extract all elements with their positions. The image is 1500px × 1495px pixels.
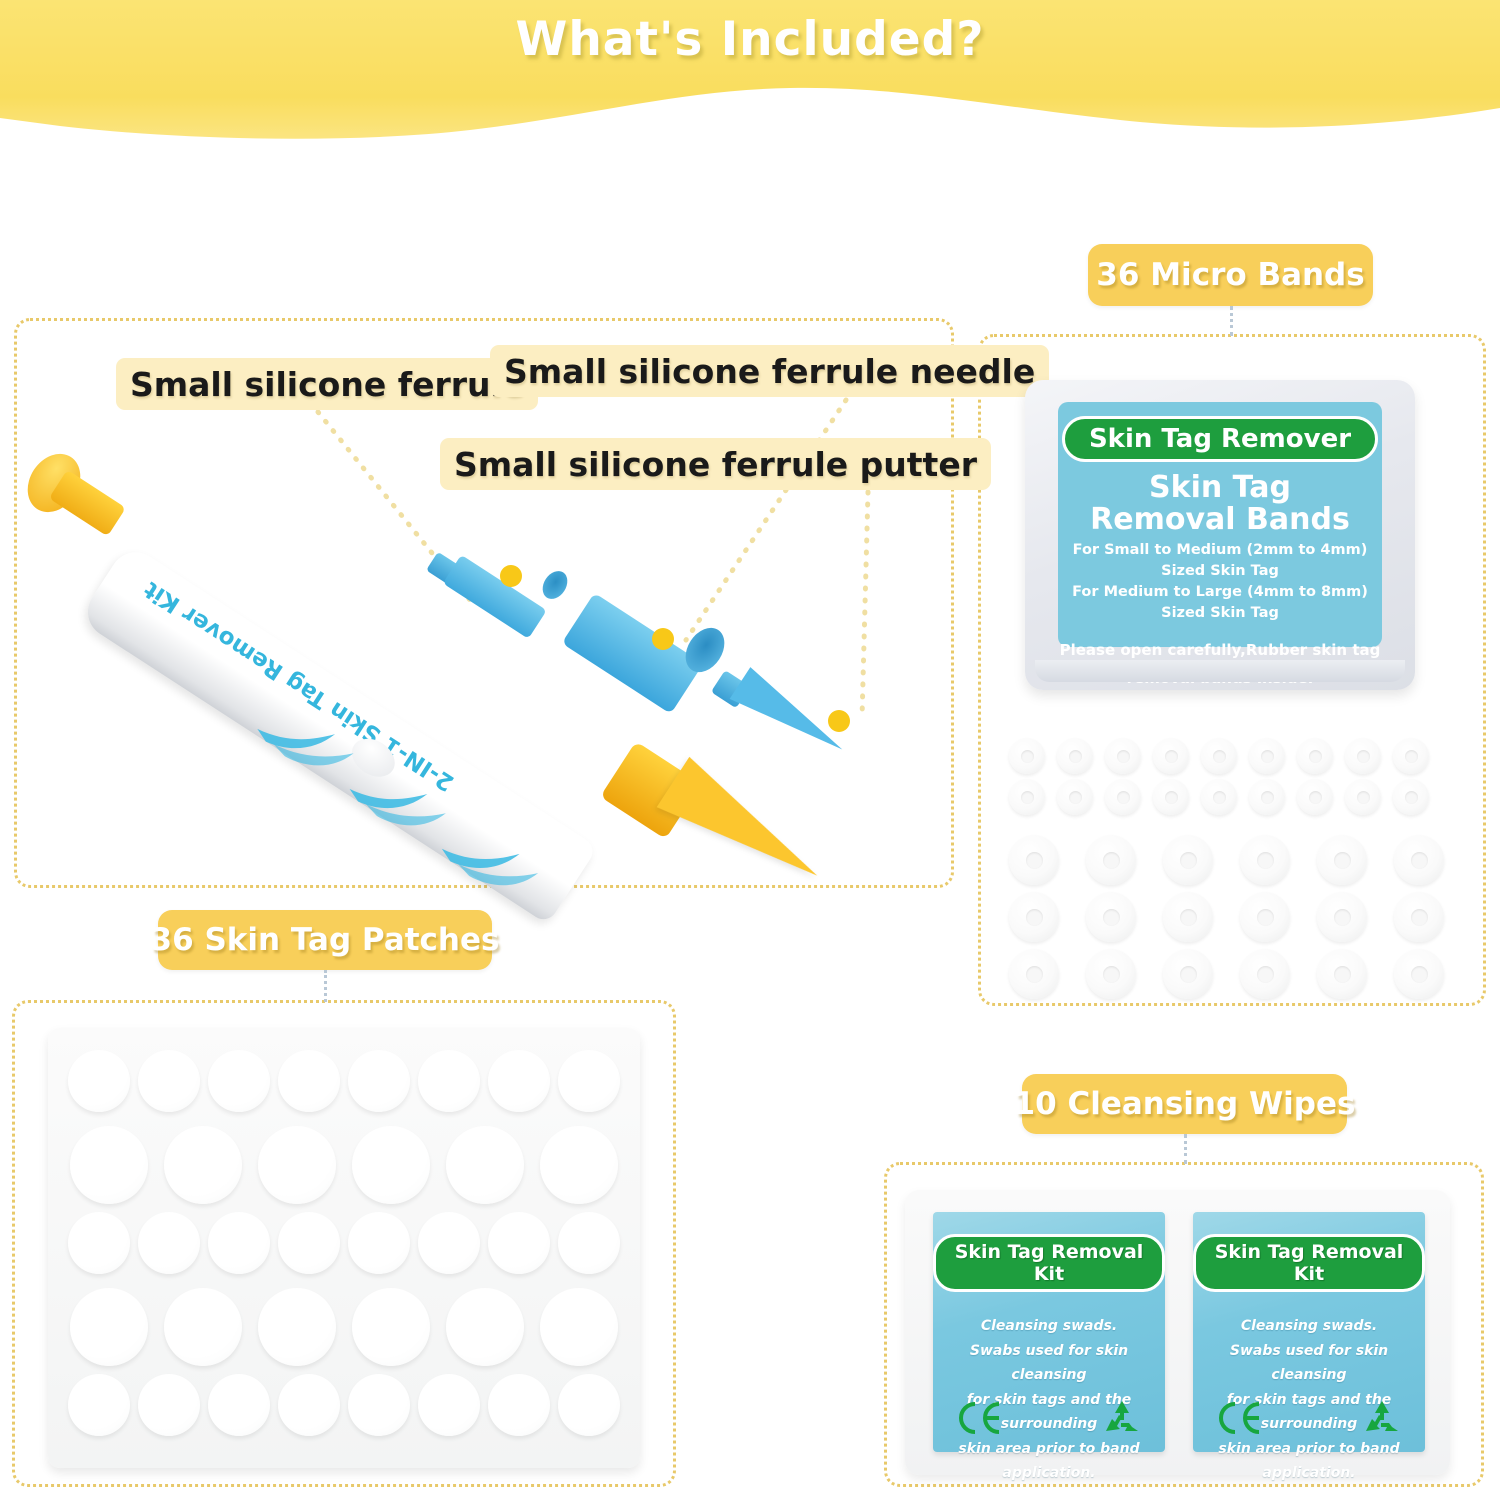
section-label-patches: 36 Skin Tag Patches xyxy=(158,910,492,970)
bands-title-line1: Skin Tag xyxy=(1058,472,1382,504)
micro-band xyxy=(1393,738,1429,774)
skin-tag-patch xyxy=(278,1050,340,1112)
micro-band xyxy=(1086,949,1136,999)
micro-band xyxy=(1105,779,1141,815)
patches-row xyxy=(68,1212,620,1274)
connector-patches xyxy=(324,970,327,1002)
micro-band xyxy=(1345,779,1381,815)
micro-band xyxy=(1105,738,1141,774)
micro-band xyxy=(1163,892,1213,942)
ce-mark-icon xyxy=(955,1398,1005,1438)
recycle-icon xyxy=(1361,1398,1403,1438)
micro-band xyxy=(1086,892,1136,942)
micro-band xyxy=(1153,738,1189,774)
pen-device: 2-IN-1 Skin Tag Remover Kit xyxy=(18,440,918,900)
skin-tag-patch xyxy=(278,1374,340,1436)
skin-tag-patch xyxy=(68,1050,130,1112)
pen-leaf-decoration xyxy=(245,687,558,916)
section-label-micro-bands: 36 Micro Bands xyxy=(1088,244,1373,306)
skin-tag-patch xyxy=(348,1374,410,1436)
wipe-line-2: Swabs used for skin cleansing xyxy=(1203,1339,1415,1388)
micro-band xyxy=(1153,779,1189,815)
micro-band xyxy=(1240,892,1290,942)
bands-case: Skin Tag Remover Skin Tag Removal Bands … xyxy=(1025,380,1415,690)
skin-tag-patch xyxy=(558,1374,620,1436)
bands-case-lip xyxy=(1035,660,1405,682)
skin-tag-patch xyxy=(70,1126,148,1204)
micro-band xyxy=(1057,779,1093,815)
skin-tag-patch xyxy=(488,1050,550,1112)
micro-bands-row xyxy=(1009,949,1444,999)
micro-band xyxy=(1345,738,1381,774)
skin-tag-patch xyxy=(352,1288,430,1366)
micro-band xyxy=(1086,835,1136,885)
pen-plunger-stem xyxy=(49,470,126,537)
skin-tag-patch xyxy=(558,1050,620,1112)
wipe-packet: Skin Tag Removal Kit Cleansing swads. Sw… xyxy=(1193,1212,1425,1452)
micro-bands-row xyxy=(1009,779,1429,815)
micro-band xyxy=(1317,949,1367,999)
bands-title-line2: Removal Bands xyxy=(1058,504,1382,536)
micro-bands-row xyxy=(1009,835,1444,885)
section-label-wipes: 10 Cleansing Wipes xyxy=(1022,1074,1347,1134)
ce-mark-icon xyxy=(1215,1398,1265,1438)
skin-tag-patch xyxy=(488,1212,550,1274)
skin-tag-patch xyxy=(418,1374,480,1436)
marker-dot-ferrule xyxy=(500,565,522,587)
micro-band xyxy=(1057,738,1093,774)
bands-spec-line1: For Small to Medium (2mm to 4mm) Sized S… xyxy=(1058,540,1382,582)
micro-band xyxy=(1009,779,1045,815)
skin-tag-patch xyxy=(558,1212,620,1274)
skin-tag-patch xyxy=(208,1374,270,1436)
connector-wipes xyxy=(1184,1134,1187,1164)
wipes-card: Skin Tag Removal Kit Cleansing swads. Sw… xyxy=(905,1190,1450,1475)
wipe-marks xyxy=(1193,1398,1425,1438)
micro-band xyxy=(1163,835,1213,885)
bands-case-label: Skin Tag Remover Skin Tag Removal Bands … xyxy=(1058,402,1382,647)
patches-row xyxy=(70,1288,618,1366)
wipe-badge: Skin Tag Removal Kit xyxy=(933,1234,1165,1292)
micro-band xyxy=(1394,949,1444,999)
skin-tag-patch xyxy=(540,1126,618,1204)
skin-tag-patch xyxy=(540,1288,618,1366)
header-banner: What's Included? xyxy=(0,0,1500,150)
micro-band xyxy=(1009,738,1045,774)
patches-row xyxy=(68,1050,620,1112)
micro-band xyxy=(1249,738,1285,774)
skin-tag-patch xyxy=(138,1374,200,1436)
micro-band xyxy=(1394,892,1444,942)
micro-band xyxy=(1009,892,1059,942)
wipe-packet: Skin Tag Removal Kit Cleansing swads. Sw… xyxy=(933,1212,1165,1452)
skin-tag-patch xyxy=(138,1050,200,1112)
micro-bands-row xyxy=(1009,892,1444,942)
micro-band xyxy=(1163,949,1213,999)
wipe-line-1: Cleansing swads. xyxy=(1203,1314,1415,1339)
micro-band xyxy=(1394,835,1444,885)
wipe-marks xyxy=(933,1398,1165,1438)
marker-dot-putter xyxy=(652,628,674,650)
skin-tag-patch xyxy=(138,1212,200,1274)
skin-tag-patch xyxy=(258,1126,336,1204)
micro-band xyxy=(1317,835,1367,885)
micro-band xyxy=(1009,949,1059,999)
micro-band xyxy=(1201,738,1237,774)
skin-tag-patch xyxy=(278,1212,340,1274)
micro-band xyxy=(1009,835,1059,885)
skin-tag-patch xyxy=(258,1288,336,1366)
callout-small-silicone-ferrule-needle: Small silicone ferrule needle xyxy=(490,345,1049,397)
patches-sheet xyxy=(48,1028,640,1468)
skin-tag-patch xyxy=(446,1126,524,1204)
micro-band xyxy=(1317,892,1367,942)
callout-small-silicone-ferrule: Small silicone ferrule xyxy=(116,358,538,410)
bands-spec-line2: For Medium to Large (4mm to 8mm) Sized S… xyxy=(1058,582,1382,624)
pen-tip-cone xyxy=(657,757,834,901)
micro-band xyxy=(1297,738,1333,774)
skin-tag-patch xyxy=(418,1212,480,1274)
marker-dot-needle xyxy=(828,710,850,732)
skin-tag-patch xyxy=(208,1212,270,1274)
micro-band xyxy=(1297,779,1333,815)
micro-band xyxy=(1201,779,1237,815)
micro-band xyxy=(1240,949,1290,999)
skin-tag-patch xyxy=(352,1126,430,1204)
micro-band xyxy=(1240,835,1290,885)
recycle-icon xyxy=(1101,1398,1143,1438)
wipe-line-1: Cleansing swads. xyxy=(943,1314,1155,1339)
patches-row xyxy=(70,1126,618,1204)
skin-tag-patch xyxy=(68,1374,130,1436)
micro-bands-row xyxy=(1009,738,1429,774)
skin-tag-patch xyxy=(348,1050,410,1112)
wipe-line-4: skin area prior to band application. xyxy=(943,1437,1155,1486)
skin-tag-patch xyxy=(418,1050,480,1112)
page-title: What's Included? xyxy=(0,12,1500,67)
wipe-line-2: Swabs used for skin cleansing xyxy=(943,1339,1155,1388)
wipe-badge: Skin Tag Removal Kit xyxy=(1193,1234,1425,1292)
connector-micro-bands xyxy=(1230,306,1233,336)
patches-row xyxy=(68,1374,620,1436)
skin-tag-patch xyxy=(208,1050,270,1112)
skin-tag-patch xyxy=(68,1212,130,1274)
micro-band xyxy=(1393,779,1429,815)
skin-tag-patch xyxy=(164,1288,242,1366)
skin-tag-patch xyxy=(164,1126,242,1204)
skin-tag-patch xyxy=(488,1374,550,1436)
skin-tag-patch xyxy=(348,1212,410,1274)
bands-badge: Skin Tag Remover xyxy=(1062,416,1378,462)
skin-tag-patch xyxy=(70,1288,148,1366)
micro-band xyxy=(1249,779,1285,815)
skin-tag-patch xyxy=(446,1288,524,1366)
wipe-line-4: skin area prior to band application. xyxy=(1203,1437,1415,1486)
